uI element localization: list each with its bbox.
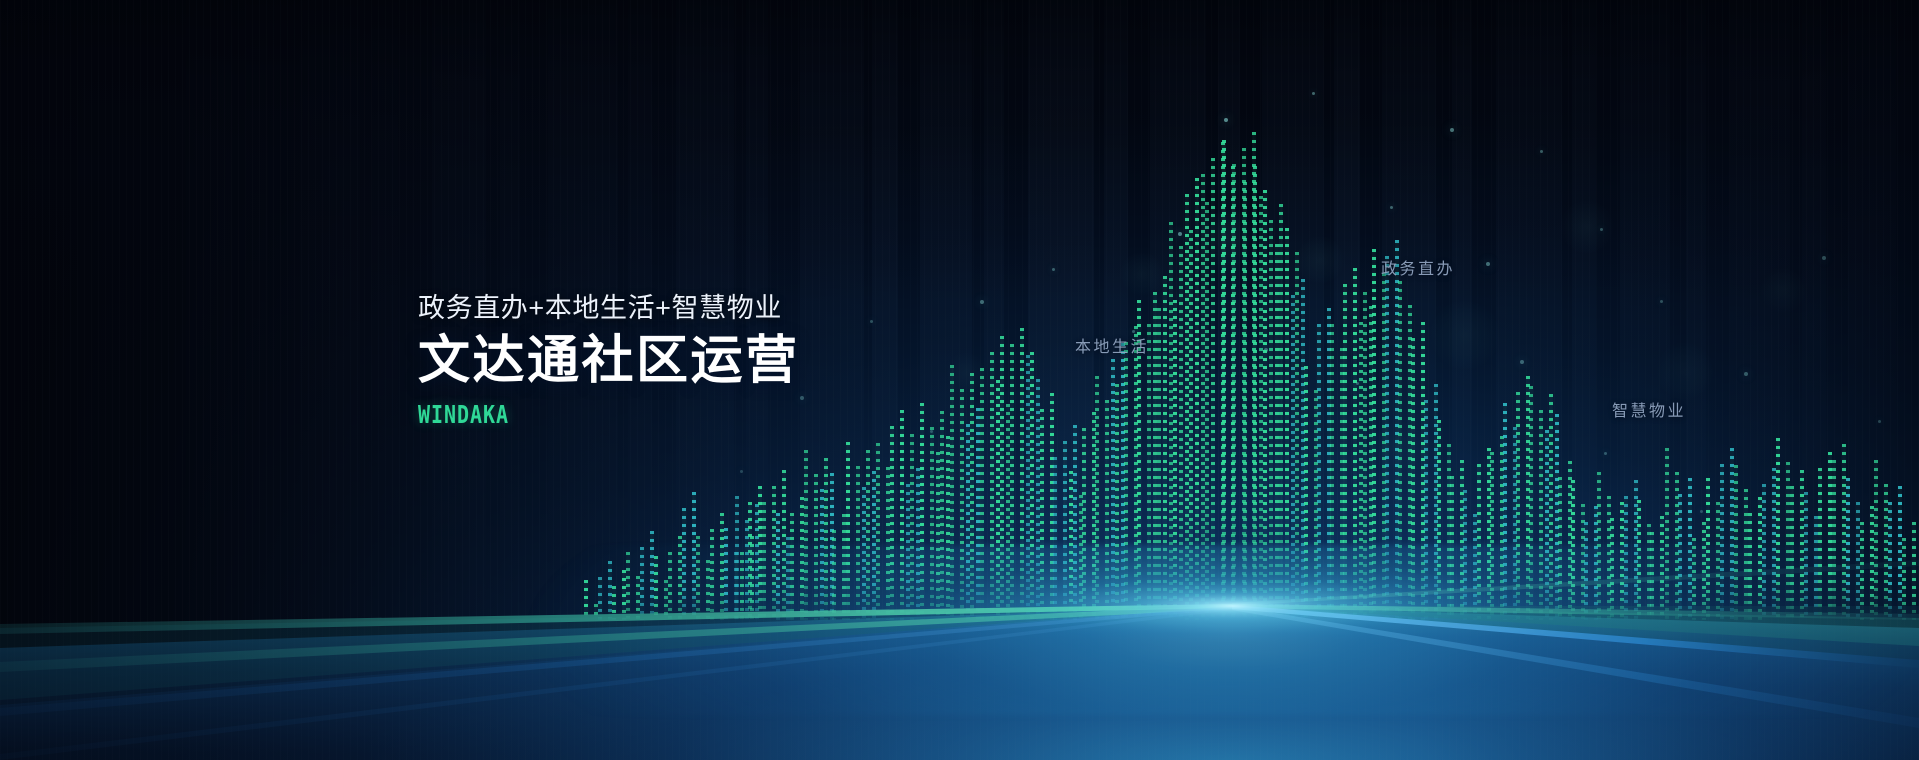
city-label-local-life: 本地生活 xyxy=(1075,333,1149,357)
city-label-smart-property: 智慧物业 xyxy=(1612,397,1686,421)
hero-copy-block: 政务直办+本地生活+智慧物业 文达通社区运营 WINDAKA xyxy=(418,292,1038,429)
hero-subtitle: 政务直办+本地生活+智慧物业 xyxy=(418,292,1038,326)
city-label-government-affairs: 政务直办 xyxy=(1381,255,1455,279)
hero-banner: 本地生活 政务直办 智慧物业 政务直办+本地生活+智慧物业 文达通社区运营 WI… xyxy=(0,0,1919,760)
brand-wordmark: WINDAKA xyxy=(418,400,914,429)
hero-title: 文达通社区运营 xyxy=(418,332,1038,390)
